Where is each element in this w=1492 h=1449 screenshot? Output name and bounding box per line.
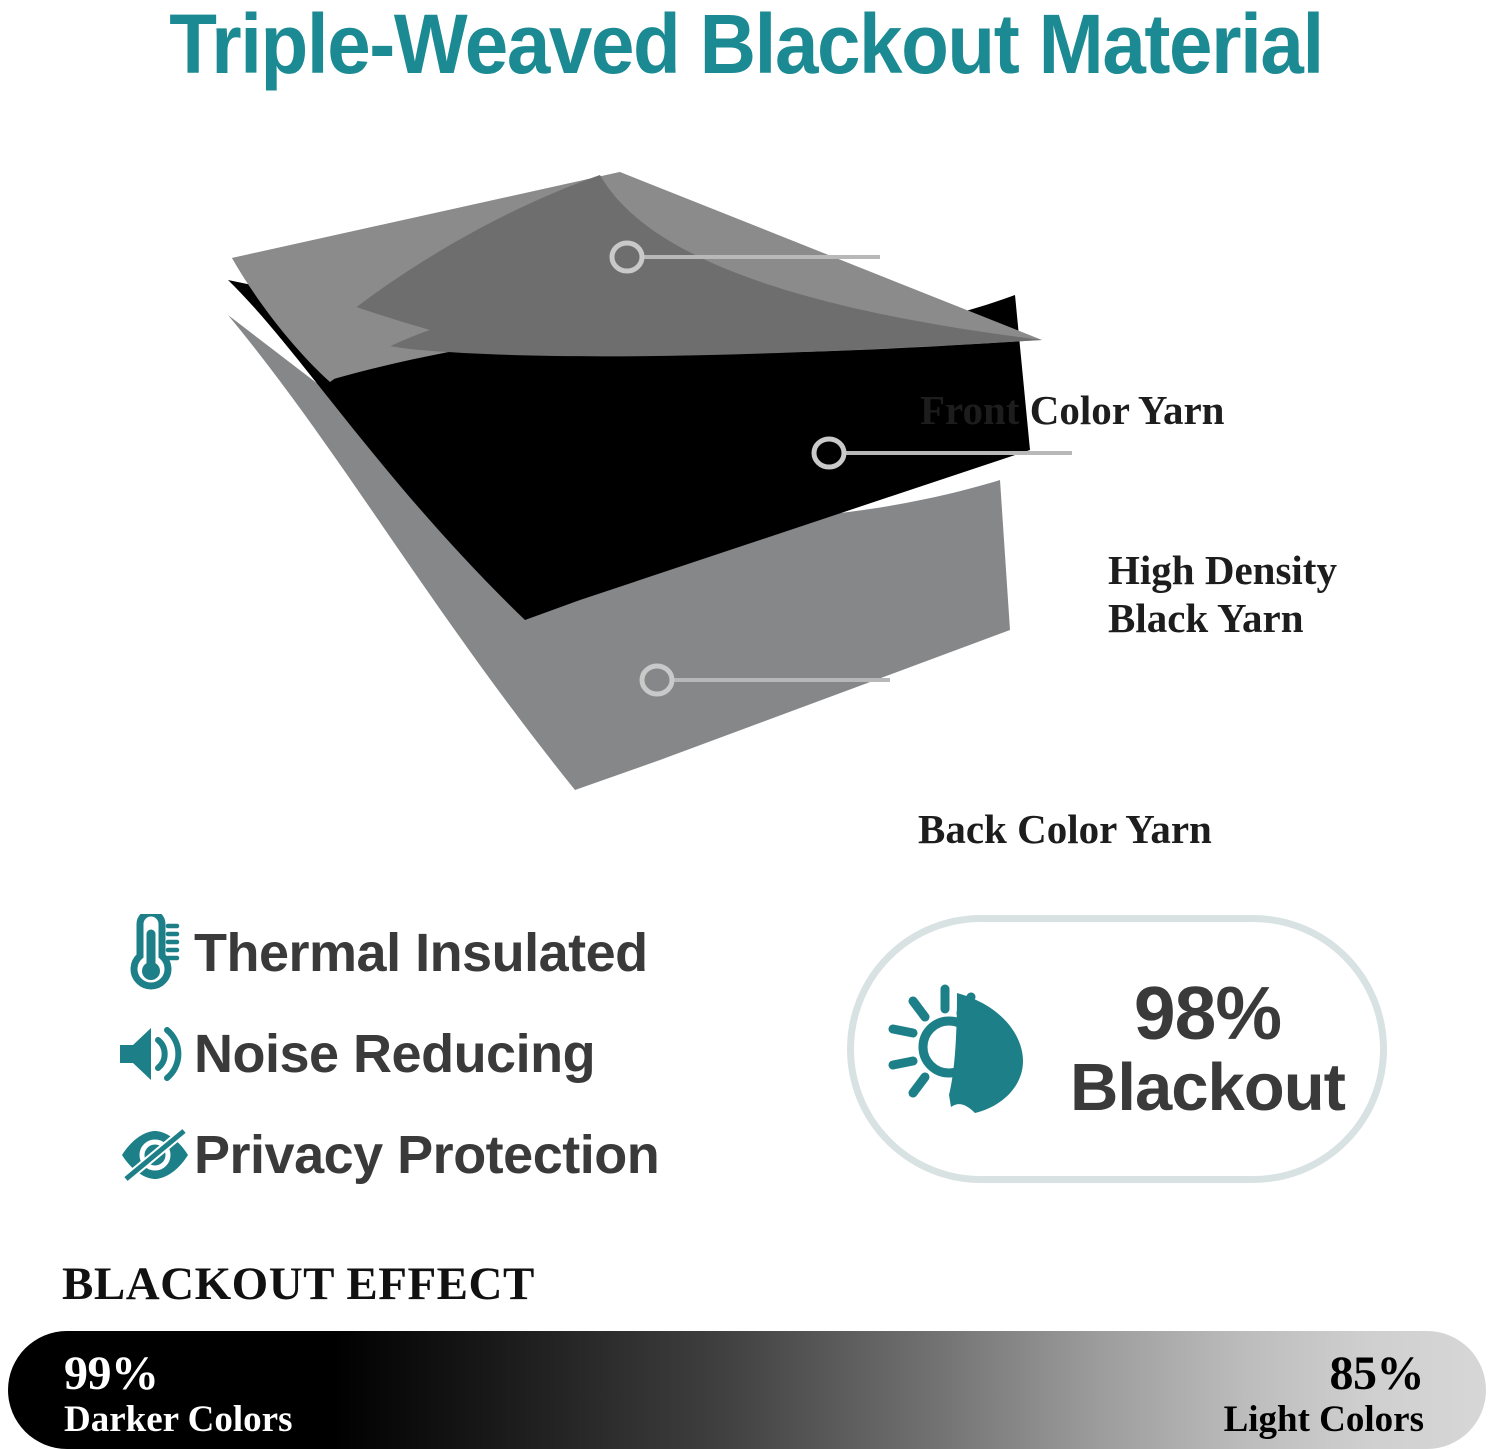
blackout-effect-left-group: 99% Darker Colors — [64, 1349, 292, 1441]
badge-word: Blackout — [1070, 1052, 1345, 1124]
blackout-effect-heading: BLACKOUT EFFECT — [62, 1258, 535, 1310]
feature-label-privacy-protection: Privacy Protection — [194, 1126, 659, 1184]
blackout-effect-left-percent: 99% — [64, 1349, 292, 1399]
sun-blocked-curtain-icon — [876, 975, 1066, 1123]
page-title: Triple-Weaved Blackout Material — [52, 0, 1440, 92]
layer-label-high-density-line2: Black Yarn — [1108, 594, 1337, 642]
thermometer-icon — [108, 914, 194, 992]
blackout-effect-right-percent: 85% — [1224, 1349, 1424, 1399]
layer-label-front: Front Color Yarn — [920, 386, 1224, 434]
feature-item-thermal-insulated: Thermal Insulated — [108, 902, 788, 1003]
blackout-percentage-badge: 98% Blackout — [847, 915, 1387, 1183]
triple-weave-layer-diagram: Front Color Yarn High Density Black Yarn… — [0, 150, 1492, 850]
speaker-sound-icon — [108, 1015, 194, 1093]
feature-item-privacy-protection: Privacy Protection — [108, 1104, 788, 1205]
blackout-effect-gradient-bar: 99% Darker Colors 85% Light Colors — [8, 1331, 1486, 1449]
blackout-effect-right-group: 85% Light Colors — [1224, 1349, 1424, 1441]
feature-list: Thermal Insulated Noise Reducing Privacy… — [108, 902, 788, 1205]
layer-label-high-density-line1: High Density — [1108, 546, 1337, 594]
layer-label-back: Back Color Yarn — [918, 805, 1212, 853]
badge-text-group: 98% Blackout — [1070, 974, 1345, 1124]
blackout-effect-right-label: Light Colors — [1224, 1399, 1424, 1441]
badge-percent: 98% — [1134, 974, 1281, 1052]
eye-off-icon — [108, 1116, 194, 1194]
feature-label-noise-reducing: Noise Reducing — [194, 1025, 595, 1083]
feature-label-thermal-insulated: Thermal Insulated — [194, 924, 648, 982]
feature-item-noise-reducing: Noise Reducing — [108, 1003, 788, 1104]
layer-label-high-density: High Density Black Yarn — [1108, 546, 1337, 642]
blackout-effect-left-label: Darker Colors — [64, 1399, 292, 1441]
